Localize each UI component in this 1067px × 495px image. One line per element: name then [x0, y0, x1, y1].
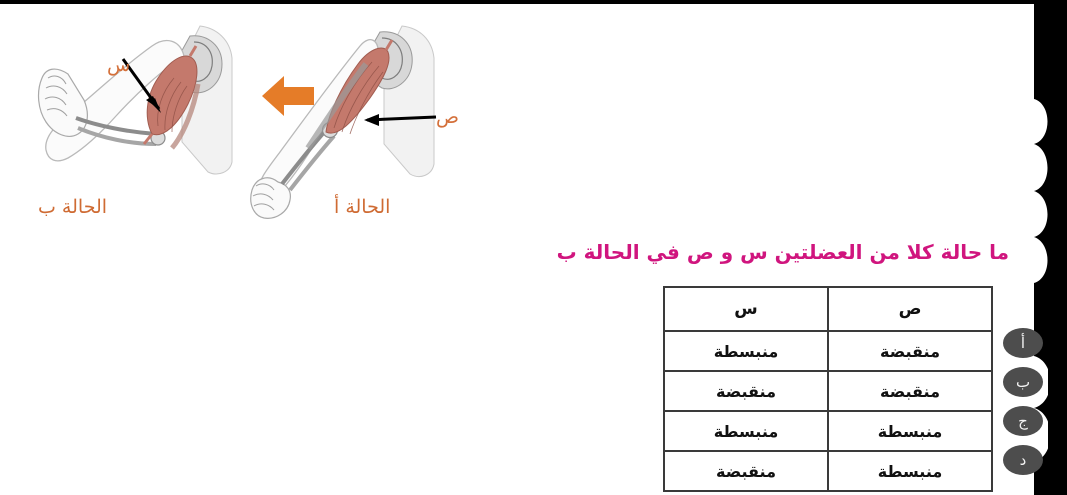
cell-seen[interactable]: منقبضة — [664, 451, 828, 491]
cell-saad[interactable]: منبسطة — [828, 451, 992, 491]
label-saad: ص — [436, 106, 459, 128]
cell-seen[interactable]: منبسطة — [664, 331, 828, 371]
option-badge-jeem[interactable]: ج — [1003, 406, 1043, 436]
table-row[interactable]: منقبضة منبسطة — [664, 331, 992, 371]
table-row[interactable]: منبسطة منبسطة — [664, 411, 992, 451]
question-text: ما حالة كلا من العضلتين س و ص في الحالة … — [557, 240, 1009, 264]
table-header-saad: ص — [828, 287, 992, 331]
option-badges: أ ب ج د — [999, 328, 1043, 484]
caption-case-a: الحالة أ — [334, 196, 390, 218]
cell-seen[interactable]: منبسطة — [664, 411, 828, 451]
cell-saad[interactable]: منقبضة — [828, 371, 992, 411]
right-arm-extended — [251, 26, 434, 218]
table-row[interactable]: منبسطة منقبضة — [664, 451, 992, 491]
option-badge-alef[interactable]: أ — [1003, 328, 1043, 358]
option-badge-baa[interactable]: ب — [1003, 367, 1043, 397]
option-badge-dal[interactable]: د — [1003, 445, 1043, 475]
cell-saad[interactable]: منبسطة — [828, 411, 992, 451]
left-arm-flexed — [39, 26, 232, 174]
cell-saad[interactable]: منقبضة — [828, 331, 992, 371]
question-page: س ص الحالة ب الحالة أ ما حالة كلا من الع… — [0, 0, 1067, 495]
table-header-seen: س — [664, 287, 828, 331]
direction-arrow — [262, 76, 314, 116]
cell-seen[interactable]: منقبضة — [664, 371, 828, 411]
arm-anatomy-svg — [12, 14, 482, 219]
answer-options-table: ص س منقبضة منبسطة منقبضة منقبضة منبسطة م… — [663, 286, 993, 492]
label-seen: س — [107, 54, 130, 76]
table-row[interactable]: منقبضة منقبضة — [664, 371, 992, 411]
caption-case-b: الحالة ب — [38, 196, 107, 218]
table-header-row: ص س — [664, 287, 992, 331]
muscle-diagram: س ص الحالة ب الحالة أ — [12, 14, 482, 219]
